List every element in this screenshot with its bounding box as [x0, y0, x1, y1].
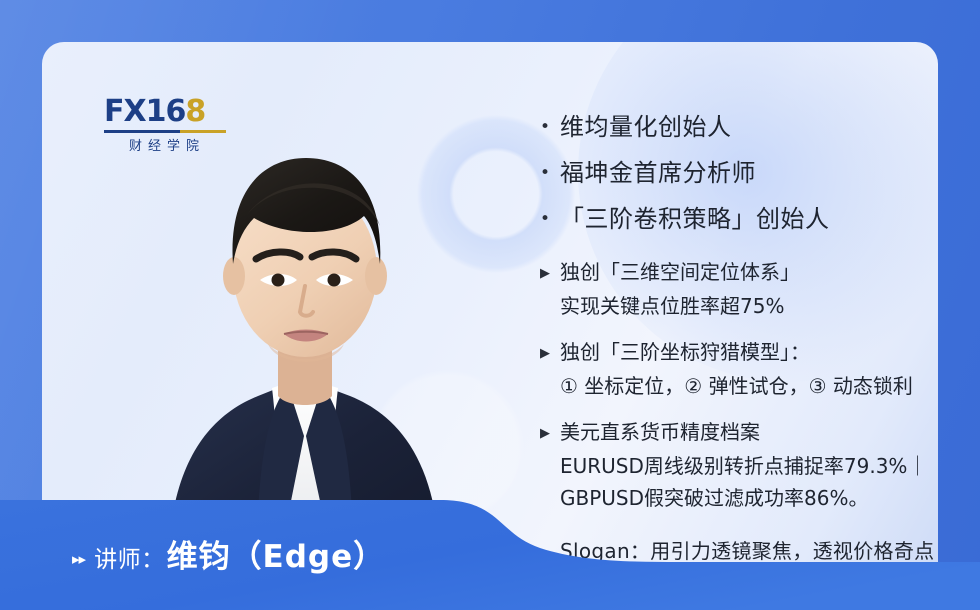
list-item-text: 独创「三维空间定位体系」	[560, 256, 938, 288]
list-item: ▶ 独创「三维空间定位体系」	[540, 256, 938, 290]
bullet-dot-icon: •	[540, 150, 560, 196]
poster-canvas: FX168 财经学院	[0, 0, 980, 610]
credentials-primary-group: • 维均量化创始人 • 福坤金首席分析师 • 「三阶卷积策略」创始人	[540, 104, 938, 242]
credentials-list: • 维均量化创始人 • 福坤金首席分析师 • 「三阶卷积策略」创始人 ▶ 独创「…	[540, 104, 938, 566]
bullet-triangle-icon: ▶	[540, 416, 560, 450]
list-item: ▶ 美元直系货币精度档案	[540, 416, 938, 450]
list-item: • 福坤金首席分析师	[540, 150, 938, 196]
double-arrow-icon: ▸▸	[72, 550, 85, 568]
list-item-text: 独创「三阶坐标狩猎模型」：	[560, 336, 938, 368]
list-item-subtext: 实现关键点位胜率超75%	[540, 290, 938, 322]
credential-block: ▶ 独创「三维空间定位体系」 实现关键点位胜率超75%	[540, 256, 938, 322]
list-item: • 维均量化创始人	[540, 104, 938, 150]
list-item-text: 「三阶卷积策略」创始人	[560, 196, 938, 242]
list-item-text: 美元直系货币精度档案	[560, 416, 938, 448]
speaker-card: FX168 财经学院	[42, 42, 938, 566]
list-item-text: 维均量化创始人	[560, 104, 938, 150]
credential-block: ▶ 独创「三阶坐标狩猎模型」： ① 坐标定位，② 弹性试仓，③ 动态锁利	[540, 336, 938, 402]
speaker-portrait	[138, 96, 468, 566]
speaker-name-label: ▸▸ 讲师： 维钧（Edge）	[72, 531, 385, 576]
bullet-triangle-icon: ▶	[540, 336, 560, 370]
list-item-subtext: EURUSD周线级别转折点捕捉率79.3%｜	[540, 450, 938, 482]
list-item-text: 福坤金首席分析师	[560, 150, 938, 196]
bullet-dot-icon: •	[540, 104, 560, 150]
list-item: • 「三阶卷积策略」创始人	[540, 196, 938, 242]
speaker-role-label: 讲师：	[94, 540, 165, 574]
bullet-triangle-icon: ▶	[540, 256, 560, 290]
list-item: ▶ 独创「三阶坐标狩猎模型」：	[540, 336, 938, 370]
bullet-dot-icon: •	[540, 196, 560, 242]
speaker-name-value: 维钧（Edge）	[167, 531, 386, 576]
list-item-subtext: ① 坐标定位，② 弹性试仓，③ 动态锁利	[540, 370, 938, 402]
